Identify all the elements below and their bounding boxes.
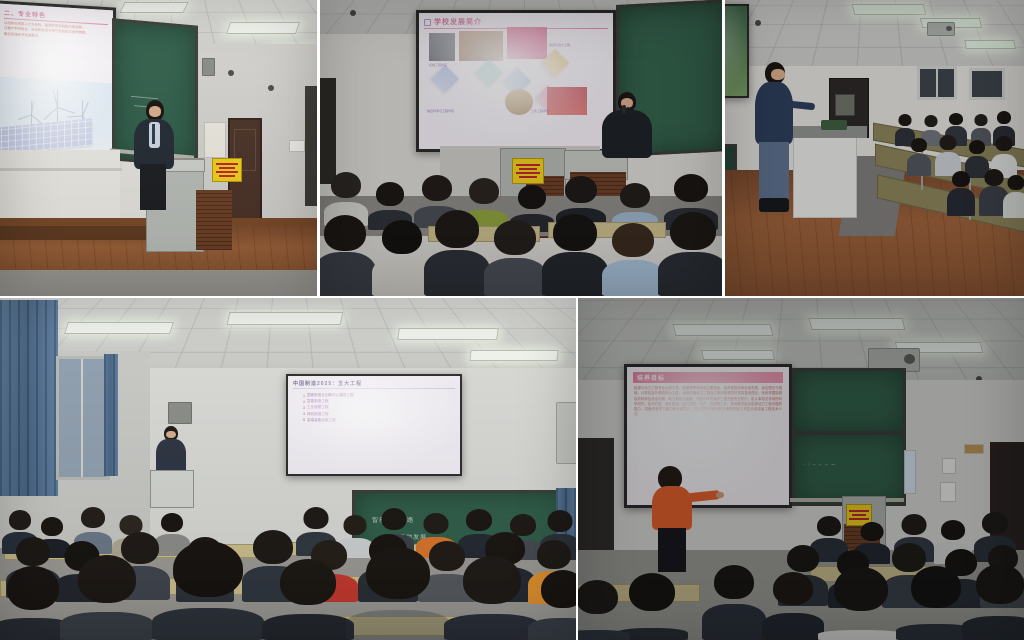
panel-top-middle: 学校发展简介 机械工程学院 电气工程学院 能源与动力工程 (320, 0, 722, 296)
bullet-number: 2 (303, 400, 305, 404)
bullet-number: 4 (303, 412, 305, 416)
slide-bottom-left: 中国制造2025：五大工程 1国家制造业创新中心建设工程 2智能制造工程 3工业… (288, 376, 460, 474)
lower-wall (0, 150, 120, 226)
speaker-figure (132, 100, 176, 210)
speaker-torso (602, 110, 652, 158)
lectern (150, 470, 194, 508)
bullet-number: 3 (303, 406, 305, 410)
speaker-head (146, 100, 164, 121)
presenter-figure (652, 466, 718, 570)
slide-top-middle: 学校发展简介 机械工程学院 电气工程学院 能源与动力工程 (419, 13, 613, 149)
ceiling-lamp (226, 22, 300, 34)
ac-unit (556, 402, 576, 464)
bullet-number: 1 (303, 394, 305, 398)
wall-rail (0, 168, 122, 171)
wall-speaker (202, 58, 215, 76)
speaker-head (765, 62, 785, 84)
bullet-label: 高端装备创新工程 (307, 418, 336, 423)
interior-window (917, 66, 957, 100)
projection-screen: 中国制造2025：五大工程 1国家制造业创新中心建设工程 2智能制造工程 3工业… (286, 374, 462, 476)
safety-warning-sign (212, 158, 242, 182)
wall-plaque (964, 444, 984, 454)
presenter-hand (716, 492, 724, 498)
bullet-label: 工业强基工程 (307, 405, 329, 410)
window-curtain (104, 354, 118, 476)
slide-caption: 信息科学与工程学院 (427, 109, 454, 113)
ceiling-lamp (64, 322, 174, 334)
slide-photo-tile (505, 89, 533, 115)
panel-top-left: 二、专业特色 以培养应用型人才为目标，强调学生实践能力的培养， 注重产学研结合，… (0, 0, 317, 296)
dark-doorway (305, 86, 317, 206)
room-floor (0, 270, 317, 296)
wall-plaque (289, 140, 305, 152)
slide-caption: 机械工程学院 (429, 63, 447, 67)
stage-front (0, 226, 150, 240)
bullet-item: 1国家制造业创新中心建设工程 (303, 393, 455, 398)
slide-diamond (431, 65, 459, 93)
slide-logo-icon (424, 19, 431, 26)
panel-top-right (725, 0, 1024, 296)
window-curtain (0, 300, 58, 496)
security-camera-icon (755, 20, 761, 26)
slide-photo-tile (507, 27, 547, 59)
ceiling-lamp (809, 318, 906, 330)
speaker-torso (755, 82, 793, 144)
slide-photo-tile (547, 87, 587, 115)
bullet-item: 4绿色制造工程 (303, 412, 455, 417)
wall-notice (204, 122, 226, 158)
slide-top-left: 二、专业特色 以培养应用型人才为目标，强调学生实践能力的培养， 注重产学研结合，… (0, 4, 113, 163)
slide-photo-tile (429, 33, 455, 61)
photo-collage: 二、专业特色 以培养应用型人才为目标，强调学生实践能力的培养， 注重产学研结合，… (0, 0, 1024, 640)
panel-seam-horizontal (0, 296, 1024, 298)
door-recess (578, 438, 614, 558)
blackboard (792, 368, 906, 434)
slide-caption: 电气工程学院 (475, 57, 493, 61)
bullet-number: 5 (303, 418, 305, 422)
bullet-label: 绿色制造工程 (307, 412, 329, 417)
bullet-item: 2智能制造工程 (303, 399, 455, 404)
lectern-wood-panel (196, 190, 232, 250)
slide-title: 学校发展简介 (434, 17, 482, 27)
speaker-figure (753, 62, 797, 230)
ceiling-lamp (701, 350, 775, 360)
slide-body: 能源与动力工程专业以热力学、机械学等学科为主要基础，培养德智体美全面发展，适应理… (634, 386, 782, 418)
slide-banner: 培养目标 (633, 372, 783, 383)
safety-warning-sign (512, 158, 544, 184)
bullet-label: 国家制造业创新中心建设工程 (307, 393, 354, 398)
slide-diamond (475, 59, 503, 87)
panel-seam-vertical (576, 298, 578, 640)
laptop (821, 120, 847, 130)
bullet-item: 5高端装备创新工程 (303, 418, 455, 423)
security-camera-icon (350, 10, 356, 16)
ceiling-lamp (964, 40, 1016, 49)
security-camera-icon (228, 70, 234, 76)
ceiling-lamp (227, 312, 344, 325)
panel-seam-vertical (722, 0, 725, 296)
ceiling-lamp (852, 4, 927, 15)
blackboard-scribble: · / ⌐ ⌐ ⌐ ─ (804, 462, 895, 470)
panel-seam-vertical (317, 0, 320, 296)
ceiling-lamp (673, 324, 774, 336)
title-rule (293, 388, 455, 389)
wall-speaker (168, 402, 192, 424)
slide-caption: 土木工程学院 (531, 109, 549, 113)
ceiling-lamp (397, 328, 499, 340)
slide-title: 中国制造2025：五大工程 (293, 380, 455, 387)
wall-notice (942, 458, 956, 474)
panel-bottom-right: 培养目标 能源与动力工程专业以热力学、机械学等学科为主要基础，培养德智体美全面发… (578, 298, 1024, 640)
wall-notice (940, 482, 956, 502)
window (56, 356, 110, 480)
security-camera-icon (268, 85, 274, 91)
slide-caption: 能源与动力工程 (549, 43, 570, 47)
projection-screen: 学校发展简介 机械工程学院 电气工程学院 能源与动力工程 (416, 10, 616, 152)
projection-screen: 二、专业特色 以培养应用型人才为目标，强调学生实践能力的培养， 注重产学研结合，… (0, 0, 116, 165)
ceiling-lamp (469, 350, 558, 361)
blackboard: · / ⌐ ⌐ ⌐ ─ (792, 432, 906, 506)
ceiling-projector (927, 22, 955, 36)
microphone-icon (622, 105, 626, 114)
wall-notice (904, 450, 916, 494)
bullet-label: 智能制造工程 (307, 399, 329, 404)
speaker-figure (602, 92, 654, 162)
ceiling-lamp (119, 2, 188, 13)
panel-bottom-left: 智能制造之路 创新驱动发展 中国制造2025：五大工程 1国家制造业创新中心建设… (0, 298, 576, 640)
interior-window (969, 68, 1005, 100)
lectern (793, 130, 857, 218)
bullet-item: 3工业强基工程 (303, 405, 455, 410)
slide-bullets: 1国家制造业创新中心建设工程 2智能制造工程 3工业强基工程 4绿色制造工程 5… (293, 393, 455, 423)
projection-screen (725, 4, 749, 98)
left-dark-doorway (320, 78, 336, 184)
